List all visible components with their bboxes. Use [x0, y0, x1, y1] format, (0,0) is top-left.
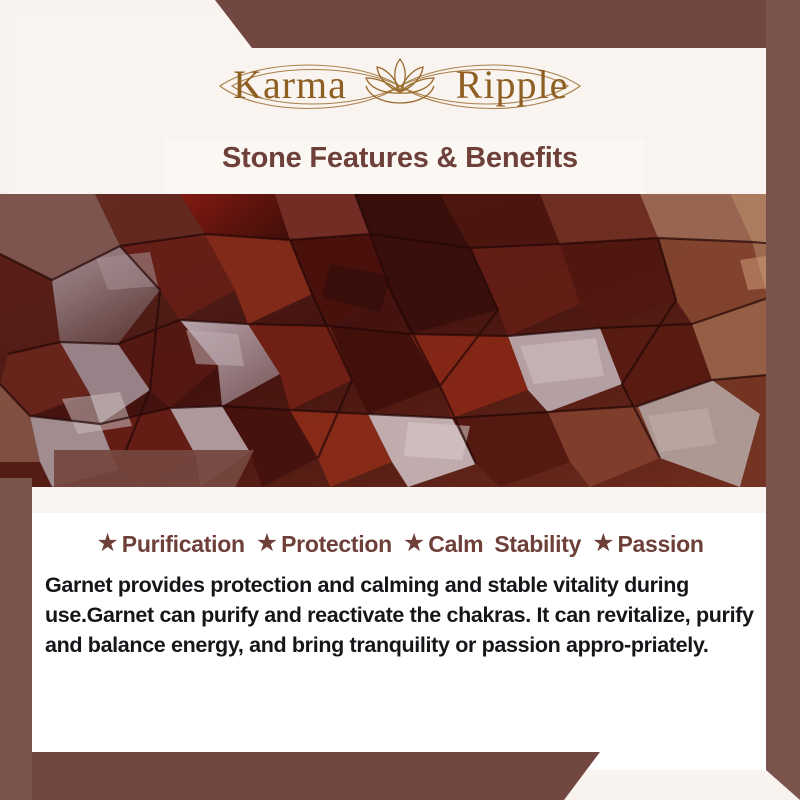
feature-label: Calm	[428, 531, 483, 558]
feature-item-calm: ★ Calm	[403, 531, 483, 558]
feature-item-passion: ★ Passion	[592, 531, 704, 558]
star-icon: ★	[403, 531, 425, 556]
star-icon: ★	[592, 531, 614, 556]
brand-name-right: Ripple	[456, 62, 569, 107]
frame-left-band	[0, 478, 32, 800]
feature-label: Passion	[618, 531, 704, 558]
panel-top-tint	[32, 487, 768, 513]
garnet-crystal-photo	[0, 194, 800, 487]
brand-logo: Karma Ripple	[0, 22, 800, 122]
page-title: Stone Features & Benefits	[0, 142, 800, 175]
stone-name-banner	[54, 450, 254, 488]
feature-item-stability: Stability	[494, 531, 581, 558]
brand-name-left: Karma	[233, 62, 347, 107]
content-panel: ★ Purification ★ Protection ★ Calm Stabi…	[32, 487, 768, 770]
stone-info-card: Karma Ripple Stone Features & Benefits	[0, 0, 800, 800]
photo-artwork	[0, 194, 800, 487]
feature-item-protection: ★ Protection	[256, 531, 392, 558]
feature-label: Stability	[494, 531, 581, 558]
stone-description: Garnet provides protection and calming a…	[45, 570, 759, 660]
feature-list: ★ Purification ★ Protection ★ Calm Stabi…	[32, 531, 768, 558]
feature-item-purification: ★ Purification	[96, 531, 244, 558]
feature-label: Protection	[281, 531, 392, 558]
lotus-flower-icon	[366, 59, 434, 103]
feature-label: Purification	[122, 531, 245, 558]
star-icon: ★	[96, 531, 118, 556]
star-icon: ★	[256, 531, 278, 556]
logo-artwork: Karma Ripple	[190, 24, 610, 120]
